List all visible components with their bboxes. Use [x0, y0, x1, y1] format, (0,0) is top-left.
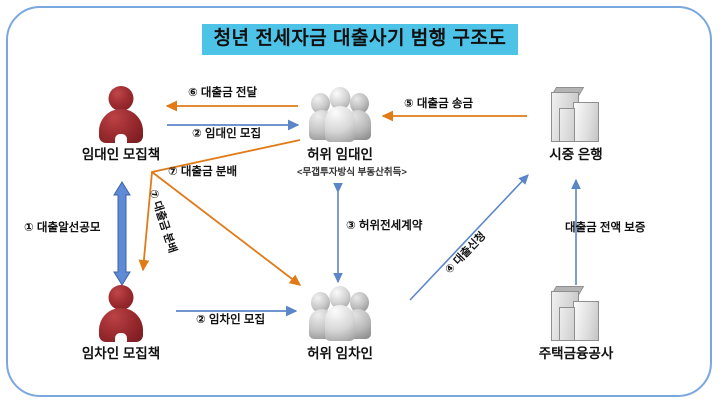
node-label: 임대인 모집책 — [78, 147, 164, 163]
people-group-icon — [309, 285, 371, 343]
edge-label-loan-brokerage-conspiracy: ① 대출알선공모 — [24, 222, 100, 235]
node-fake-tenant[interactable]: 허위 임차인 — [297, 285, 383, 362]
edge-label-fake-lease-contract: ③ 허위전세계약 — [346, 220, 422, 233]
edge-label-full-loan-guarantee: 대출금 전액 보증 — [565, 222, 645, 235]
edge-1-loan-brokerage-conspiracy — [114, 182, 130, 285]
building-icon — [545, 285, 607, 343]
node-landlord-recruiter[interactable]: 임대인 모집책 — [78, 86, 164, 163]
building-icon — [545, 86, 607, 144]
edge-label-landlord-recruit: ② 임대인 모집 — [192, 128, 261, 141]
node-tenant-recruiter[interactable]: 임차인 모집책 — [78, 285, 164, 362]
node-label: 주택금융공사 — [533, 346, 619, 362]
node-label: 임차인 모집책 — [78, 346, 164, 362]
node-housing-finance-corp[interactable]: 주택금융공사 — [533, 285, 619, 362]
edge-label-loan-delivery: ⑥ 대출금 전달 — [188, 87, 257, 100]
person-icon — [97, 285, 145, 343]
edge-label-loan-remittance: ⑤ 대출금 송금 — [404, 98, 473, 111]
node-label: 시중 은행 — [533, 147, 619, 163]
node-sublabel: <무갭투자방식 부동산취득> — [297, 164, 383, 178]
edge-4-loan-application — [410, 175, 528, 300]
edge-label-tenant-recruit: ② 임차인 모집 — [196, 314, 265, 327]
person-icon — [97, 86, 145, 144]
node-label: 허위 임차인 — [297, 346, 383, 362]
node-label: 허위 임대인 — [297, 147, 383, 163]
edge-label-loan-distribution-right: ⑦ 대출금 분배 — [168, 166, 237, 179]
people-group-icon — [309, 86, 371, 144]
node-commercial-bank[interactable]: 시중 은행 — [533, 86, 619, 163]
node-fake-landlord[interactable]: 허위 임대인 <무갭투자방식 부동산취득> — [297, 86, 383, 178]
edge-7-loan-distribution-right — [152, 172, 300, 285]
